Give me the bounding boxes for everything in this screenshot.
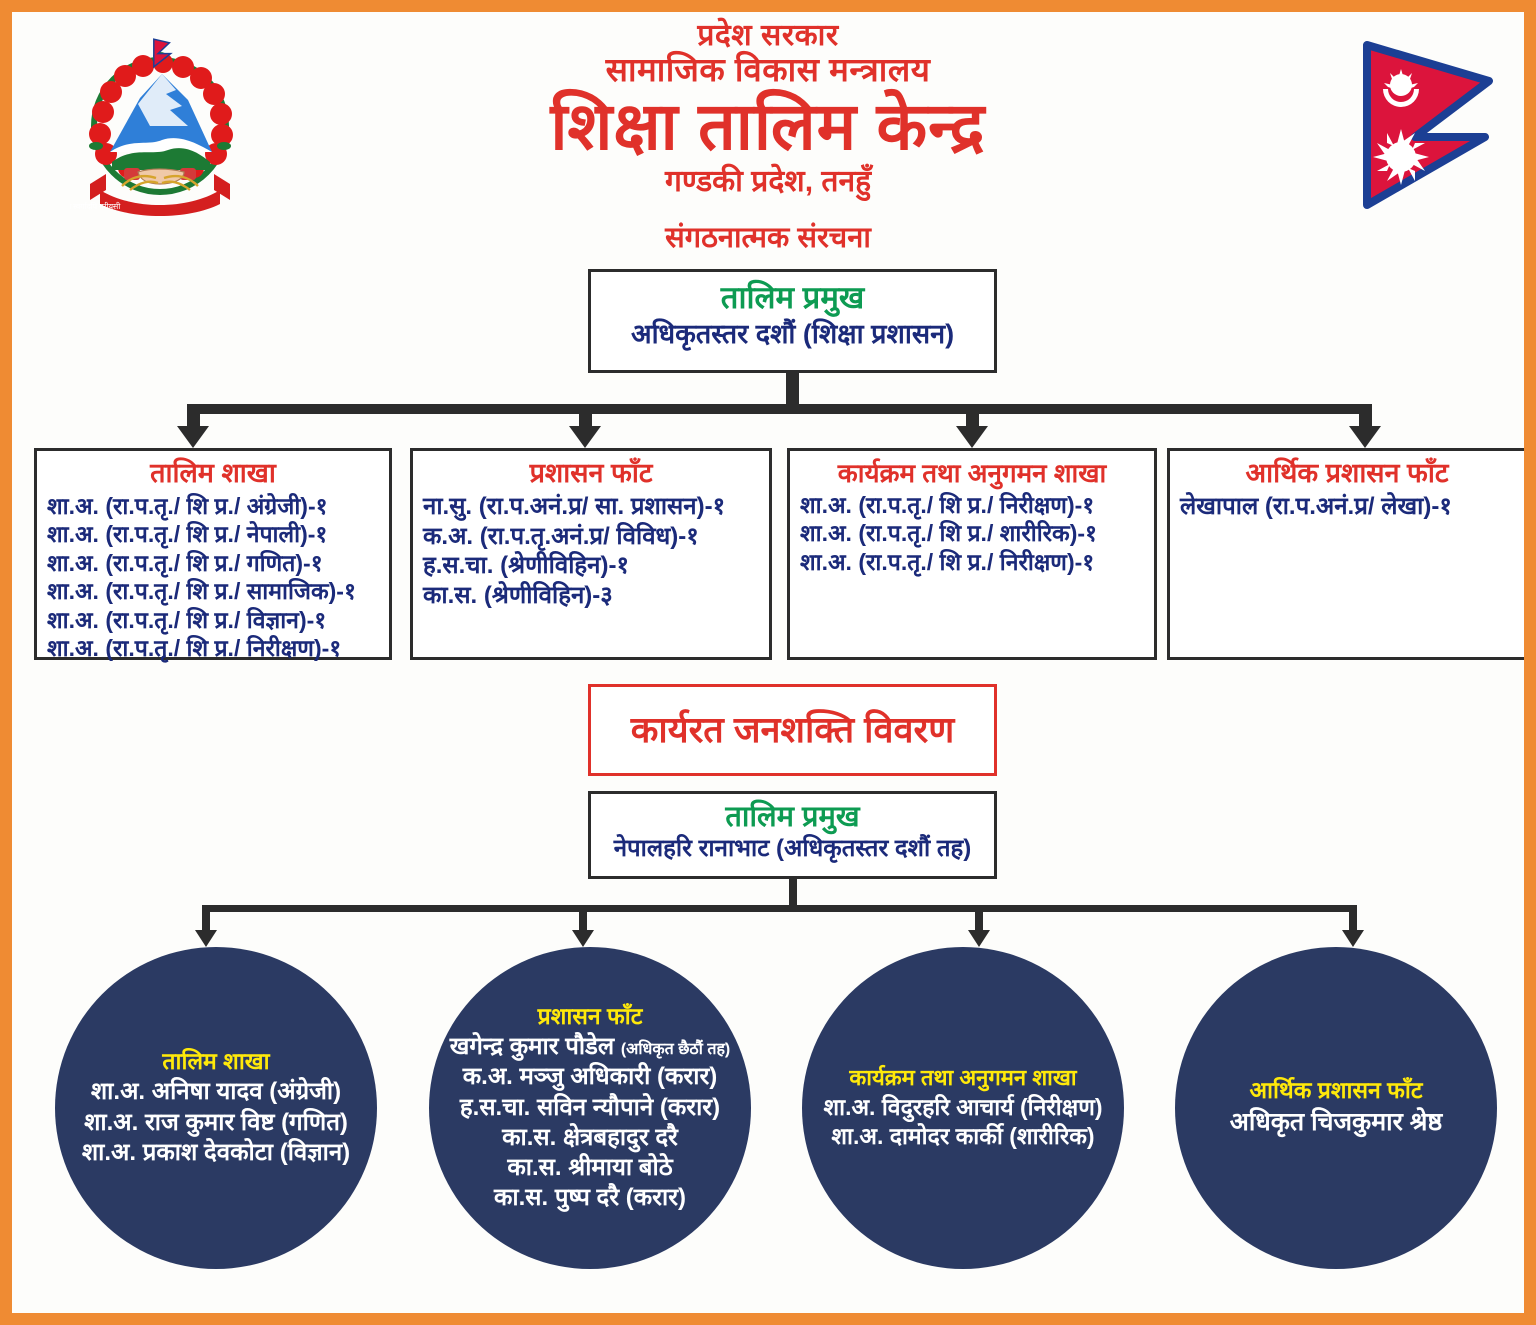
staff-circle-line: क.अ. मञ्जु अधिकारी (करार): [463, 1062, 718, 1092]
staff-circle-title: तालिम शाखा: [162, 1048, 269, 1076]
staff-head-title: तालिम प्रमुख: [591, 800, 994, 834]
head-node-title: तालिम प्रमुख: [591, 280, 994, 317]
staff-circle-line-note: (अधिकृत छैठौं तह): [621, 1041, 730, 1058]
staff-circle-training: तालिम शाखा शा.अ. अनिषा यादव (अंग्रेजी) श…: [55, 947, 377, 1269]
header-line2: सामाजिक विकास मन्त्रालय: [12, 52, 1524, 88]
staff-head-subtitle: नेपालहरि रानाभाट (अधिकृतस्तर दशौं तह): [591, 835, 994, 864]
staff-circle-line: शा.अ. अनिषा यादव (अंग्रेजी): [91, 1077, 341, 1107]
page-header: प्रदेश सरकार सामाजिक विकास मन्त्रालय शिक…: [12, 20, 1524, 256]
header-subtitle: गण्डकी प्रदेश, तनहुँ: [12, 165, 1524, 200]
staff-circle-line: शा.अ. विदुरहरि आचार्य (निरीक्षण): [824, 1093, 1103, 1122]
staff-circle-line: का.स. क्षेत्रबहादुर दरै: [502, 1123, 678, 1153]
staff-circle-title: आर्थिक प्रशासन फाँट: [1250, 1077, 1423, 1105]
staff-circle-line: शा.अ. दामोदर कार्की (शारीरिक): [831, 1122, 1094, 1151]
branch-line: लेखापाल (रा.प.अनं.प्र/ लेखा)-१: [1180, 492, 1514, 522]
staff-circle-line-with-note: खगेन्द्र कुमार पौडेल (अधिकृत छैठौं तह): [450, 1032, 731, 1062]
structure-label: संगठनात्मक संरचना: [12, 217, 1524, 256]
organizational-chart-page: जननी जन्मभूमिश्च स्वर्गादपि गरीयसी: [0, 0, 1536, 1325]
branch-line: का.स. (श्रेणीविहिन)-३: [423, 581, 759, 611]
staff-head-node-training-chief: तालिम प्रमुख नेपालहरि रानाभाट (अधिकृतस्त…: [588, 791, 997, 879]
branch-line: शा.अ. (रा.प.तृ./ शि प्र./ शारीरिक)-१: [800, 519, 1144, 548]
staff-circle-line: अधिकृत चिजकुमार श्रेष्ठ: [1230, 1107, 1442, 1139]
staff-circle-line: का.स. पुष्प दरै (करार): [494, 1183, 686, 1213]
header-line1: प्रदेश सरकार: [12, 20, 1524, 52]
staff-circle-line: का.स. श्रीमाया बोठे: [507, 1153, 672, 1183]
branch-line: ह.स.चा. (श्रेणीविहिन)-१: [423, 551, 759, 581]
branch-box-training: तालिम शाखा शा.अ. (रा.प.तृ./ शि प्र./ अंग…: [34, 448, 392, 660]
branch-box-financial-administration: आर्थिक प्रशासन फाँट लेखापाल (रा.प.अनं.प्…: [1167, 448, 1527, 660]
branch-title: कार्यक्रम तथा अनुगमन शाखा: [800, 458, 1144, 489]
branch-line: शा.अ. (रा.प.तृ./ शि प्र./ नेपाली)-१: [47, 520, 379, 549]
page-title: शिक्षा तालिम केन्द्र: [12, 89, 1524, 165]
branch-title: तालिम शाखा: [47, 458, 379, 490]
branch-line: शा.अ. (रा.प.तृ./ शि प्र./ विज्ञान)-१: [47, 606, 379, 635]
branch-box-administration: प्रशासन फाँट ना.सु. (रा.प.अनं.प्र/ सा. प…: [410, 448, 772, 660]
branch-line: शा.अ. (रा.प.तृ./ शि प्र./ अंग्रेजी)-१: [47, 492, 379, 521]
staff-circle-line: ह.स.चा. सविन न्यौपाने (करार): [460, 1093, 720, 1123]
staff-circle-title: प्रशासन फाँट: [538, 1003, 643, 1031]
branch-line: क.अ. (रा.प.तृ.अनं.प्र/ विविध)-१: [423, 522, 759, 552]
head-node-training-chief: तालिम प्रमुख अधिकृतस्तर दशौं (शिक्षा प्र…: [588, 269, 997, 373]
branch-line: शा.अ. (रा.प.तृ./ शि प्र./ निरीक्षण)-१: [47, 634, 379, 663]
staff-circle-financial-administration: आर्थिक प्रशासन फाँट अधिकृत चिजकुमार श्रे…: [1175, 947, 1497, 1269]
staff-circle-line: खगेन्द्र कुमार पौडेल: [450, 1033, 614, 1060]
branch-line: शा.अ. (रा.प.तृ./ शि प्र./ सामाजिक)-१: [47, 577, 379, 606]
head-node-subtitle: अधिकृतस्तर दशौं (शिक्षा प्रशासन): [591, 318, 994, 350]
staff-circle-line: शा.अ. प्रकाश देवकोटा (विज्ञान): [82, 1138, 350, 1168]
staff-details-banner: कार्यरत जनशक्ति विवरण: [588, 684, 997, 776]
banner-text: कार्यरत जनशक्ति विवरण: [631, 710, 955, 750]
branch-line: शा.अ. (रा.प.तृ./ शि प्र./ निरीक्षण)-१: [800, 491, 1144, 520]
branch-title: आर्थिक प्रशासन फाँट: [1180, 458, 1514, 490]
staff-circle-administration: प्रशासन फाँट खगेन्द्र कुमार पौडेल (अधिकृ…: [429, 947, 751, 1269]
branch-title: प्रशासन फाँट: [423, 458, 759, 490]
staff-circle-program-monitoring: कार्यक्रम तथा अनुगमन शाखा शा.अ. विदुरहरि…: [802, 947, 1124, 1269]
branch-line: ना.सु. (रा.प.अनं.प्र/ सा. प्रशासन)-१: [423, 492, 759, 522]
branch-line: शा.अ. (रा.प.तृ./ शि प्र./ निरीक्षण)-१: [800, 548, 1144, 577]
branch-line: शा.अ. (रा.प.तृ./ शि प्र./ गणित)-१: [47, 549, 379, 578]
staff-circle-title: कार्यक्रम तथा अनुगमन शाखा: [849, 1065, 1076, 1091]
staff-circle-line: शा.अ. राज कुमार विष्ट (गणित): [84, 1108, 348, 1138]
branch-box-program-monitoring: कार्यक्रम तथा अनुगमन शाखा शा.अ. (रा.प.तृ…: [787, 448, 1157, 660]
